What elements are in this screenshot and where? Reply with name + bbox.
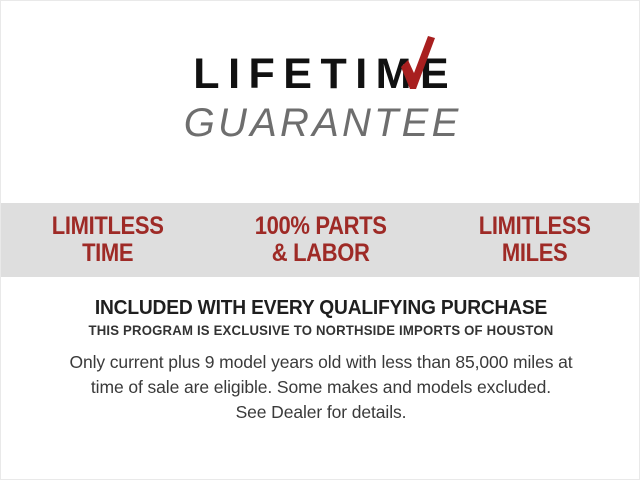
claim-line-2: MILES [440, 240, 628, 267]
fineprint-line-1: Only current plus 9 model years old with… [1, 350, 640, 375]
fineprint-line-3: See Dealer for details. [1, 400, 640, 425]
subheadline: THIS PROGRAM IS EXCLUSIVE TO NORTHSIDE I… [20, 322, 622, 338]
claim-line-1: 100% PARTS [227, 213, 415, 240]
claim-line-2: & LABOR [227, 240, 415, 267]
fineprint-disclaimer: Only current plus 9 model years old with… [1, 350, 640, 425]
claim-line-2: TIME [14, 240, 202, 267]
lifetime-guarantee-advertisement: LIFETIME GUARANTEE LIMITLESS TIME 100% P… [0, 0, 640, 480]
fineprint-line-2: time of sale are eligible. Some makes an… [1, 375, 640, 400]
claims-band: LIMITLESS TIME 100% PARTS & LABOR LIMITL… [1, 203, 640, 277]
logo-block: LIFETIME GUARANTEE [1, 53, 640, 143]
claim-line-1: LIMITLESS [440, 213, 628, 240]
logo-lockup: LIFETIME GUARANTEE [181, 53, 462, 143]
claim-limitless-miles: LIMITLESS MILES [440, 213, 628, 267]
headline: INCLUDED WITH EVERY QUALIFYING PURCHASE [14, 297, 628, 320]
logo-lifetime-text: LIFETIME [181, 53, 462, 96]
claim-parts-and-labor: 100% PARTS & LABOR [227, 213, 415, 267]
claim-line-1: LIMITLESS [14, 213, 202, 240]
claim-limitless-time: LIMITLESS TIME [14, 213, 202, 267]
logo-guarantee-text: GUARANTEE [181, 103, 462, 143]
